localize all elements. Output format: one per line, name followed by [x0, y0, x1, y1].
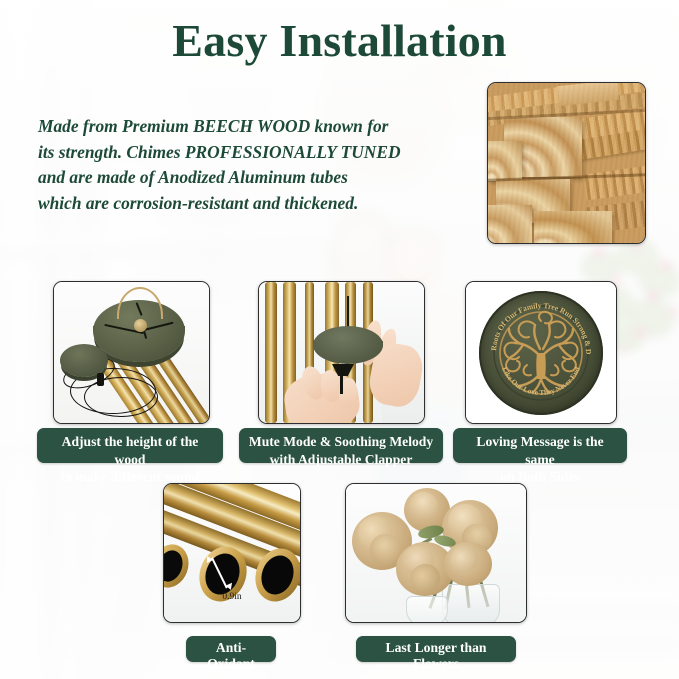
intro-line-4: which are corrosion-resistant and thicke…	[38, 191, 478, 217]
wood-disc-cord-image	[54, 282, 209, 423]
hand-adjusting-clapper-image	[259, 282, 424, 423]
feature-photo-anti-oxidant: 0.9in	[163, 483, 301, 623]
intro-line-1: Made from Premium BEECH WOOD known for	[38, 114, 478, 140]
aluminum-tube-diameter-image: 0.9in	[164, 484, 300, 622]
tree-of-life-icon: The Roots Of Our Family Tree Run Strong …	[479, 291, 603, 415]
feature-photo-last-longer	[345, 483, 527, 623]
intro-paragraph: Made from Premium BEECH WOOD known for i…	[38, 114, 478, 216]
caption-anti-oxidant: Anti-Qxidant	[186, 636, 276, 662]
feature-photo-mute-mode	[258, 281, 425, 424]
feature-photo-adjust-height	[53, 281, 210, 424]
page-title: Easy Installation	[0, 14, 679, 67]
caption-loving-message: Loving Message is the same on Both Sides	[453, 428, 627, 463]
caption-last-longer: Last Longer than Flowers	[356, 636, 516, 662]
feature-photo-loving-message: The Roots Of Our Family Tree Run Strong …	[465, 281, 617, 424]
caption-loving-message-line1: Loving Message is the same	[476, 434, 603, 467]
caption-adjust-height: Adjust the height of the wood to make di…	[37, 428, 223, 463]
caption-adjust-height-line1: Adjust the height of the wood	[62, 434, 199, 467]
intro-line-3: and are made of Anodized Aluminum tubes	[38, 165, 478, 191]
product-feature-infographic: Easy Installation Made from Premium BEEC…	[0, 0, 679, 679]
beech-wood-stack-image	[488, 83, 645, 243]
medallion-disc: The Roots Of Our Family Tree Run Strong …	[479, 291, 603, 415]
caption-mute-mode-line2: with Adjustable Clapper	[270, 452, 413, 467]
caption-mute-mode-line1: Mute Mode & Soothing Melody	[249, 434, 433, 449]
tube-diameter-label: 0.9in	[196, 592, 268, 602]
dried-roses-image	[346, 484, 526, 622]
intro-line-2: its strength. Chimes PROFESSIONALLY TUNE…	[38, 140, 478, 166]
tree-of-life-medallion-image: The Roots Of Our Family Tree Run Strong …	[466, 282, 616, 423]
caption-loving-message-line2: on Both Sides	[500, 469, 579, 484]
adjustable-clapper	[313, 326, 383, 364]
caption-adjust-height-line2: to make different sound	[61, 469, 199, 484]
hero-wood-photo	[487, 82, 646, 244]
caption-mute-mode: Mute Mode & Soothing Melody with Adjusta…	[239, 428, 443, 463]
